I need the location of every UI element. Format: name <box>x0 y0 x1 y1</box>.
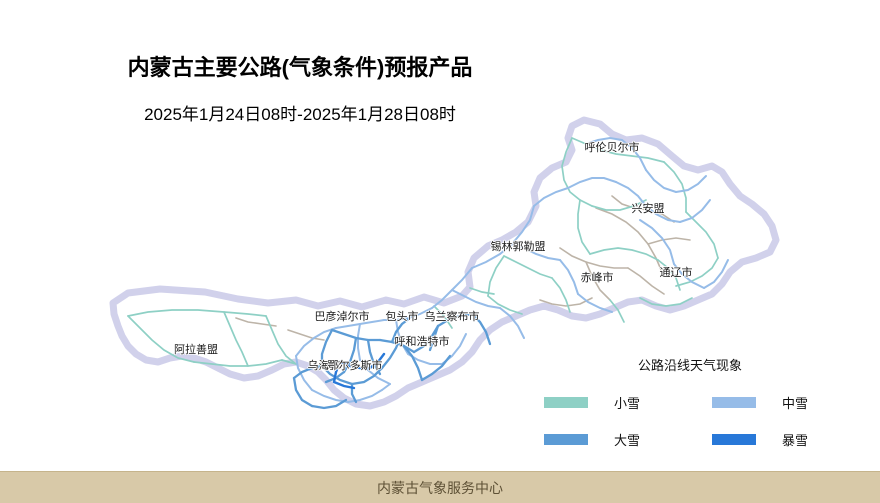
legend-label-blizzard: 暴雪 <box>782 430 808 449</box>
legend-swatch-moderate-snow <box>712 397 756 408</box>
city-label-chifeng: 赤峰市 <box>581 270 614 284</box>
forecast-map-page: 内蒙古主要公路(气象条件)预报产品 2025年1月24日08时-2025年1月2… <box>0 0 880 502</box>
city-label-ordos: 鄂尔多斯市 <box>328 358 383 372</box>
legend-item-light-snow[interactable]: 小雪 <box>544 393 640 412</box>
legend-title: 公路沿线天气现象 <box>540 355 840 374</box>
legend-swatch-light-snow <box>544 397 588 408</box>
legend-item-moderate-snow[interactable]: 中雪 <box>712 393 808 412</box>
city-label-hohhot: 呼和浩特市 <box>395 334 450 348</box>
city-label-ulanqab: 乌兰察布市 <box>425 309 480 323</box>
city-label-baotou: 包头市 <box>386 309 419 323</box>
city-label-alxa: 阿拉善盟 <box>174 342 218 356</box>
legend-item-blizzard[interactable]: 暴雪 <box>712 430 808 449</box>
legend: 公路沿线天气现象 小雪 中雪 大雪 暴雪 <box>540 355 840 455</box>
legend-label-light-snow: 小雪 <box>614 393 640 412</box>
legend-label-moderate-snow: 中雪 <box>782 393 808 412</box>
legend-item-heavy-snow[interactable]: 大雪 <box>544 430 640 449</box>
legend-label-heavy-snow: 大雪 <box>614 430 640 449</box>
footer-organization-name: 内蒙古气象服务中心 <box>377 478 503 498</box>
city-label-tongliao: 通辽市 <box>660 265 693 279</box>
city-label-hulunbuir: 呼伦贝尔市 <box>585 140 640 154</box>
footer-bar: 内蒙古气象服务中心 <box>0 471 880 503</box>
legend-swatch-blizzard <box>712 434 756 445</box>
city-label-hinggan: 兴安盟 <box>632 201 665 215</box>
city-label-bayannur: 巴彦淖尔市 <box>315 309 370 323</box>
city-label-xilingol: 锡林郭勒盟 <box>491 239 546 253</box>
legend-swatch-heavy-snow <box>544 434 588 445</box>
